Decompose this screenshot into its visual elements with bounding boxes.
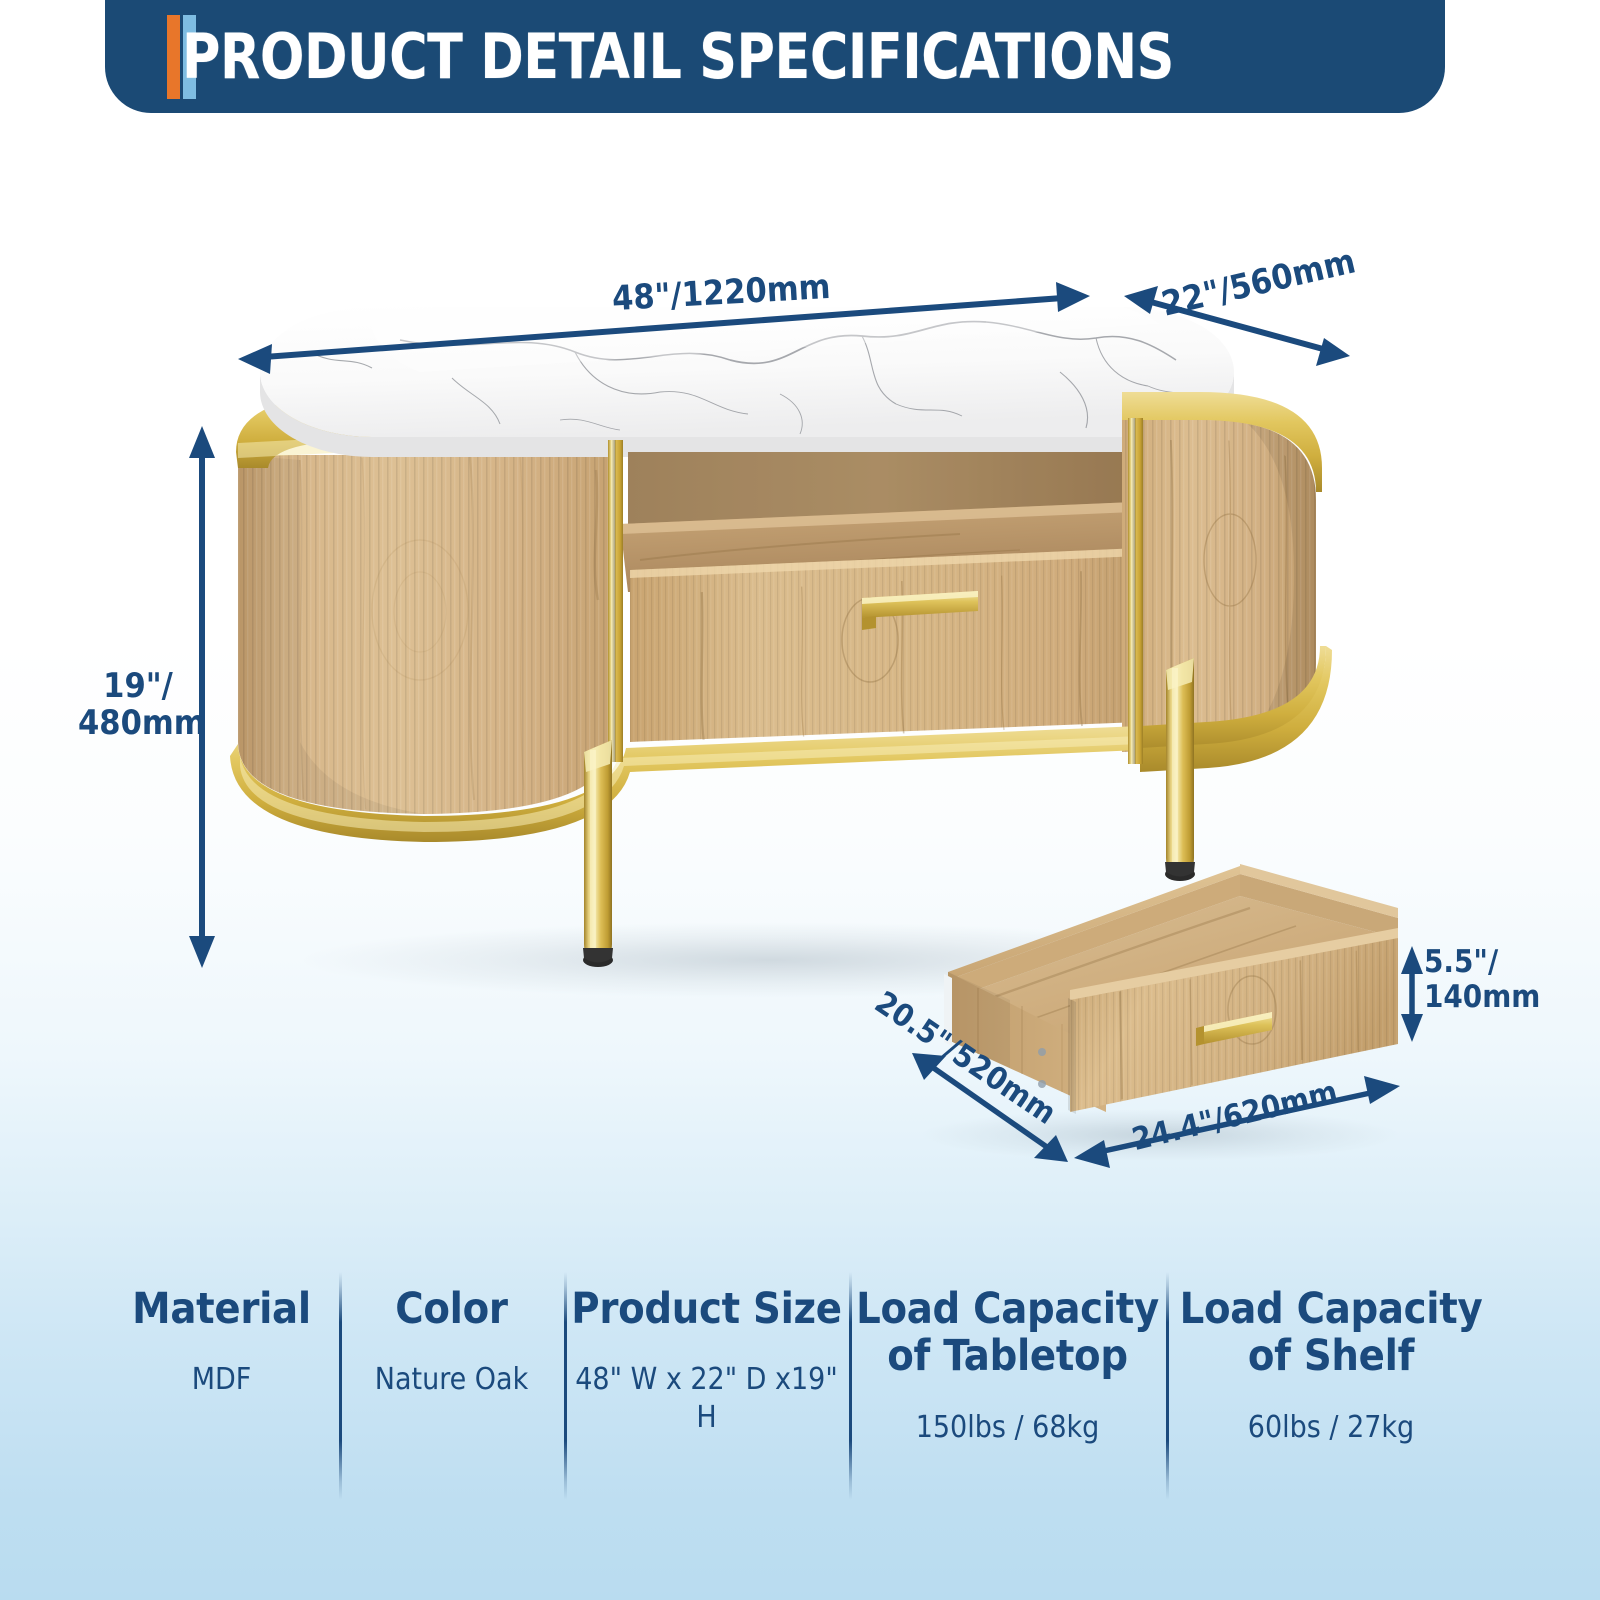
- specifications-table: Material MDF Color Nature Oak Product Si…: [104, 1272, 1496, 1512]
- spec-value-product-size: 48" W x 22" D x19" H: [564, 1361, 849, 1437]
- spec-column-load-capacity-shelf: Load Capacity of Shelf 60lbs / 27kg: [1166, 1272, 1496, 1512]
- dimension-label-drawer-height: 5.5"/ 140mm: [1424, 945, 1540, 1014]
- spec-value-load-capacity-shelf: 60lbs / 27kg: [1248, 1409, 1414, 1447]
- dimension-label-drawer-height-line2: 140mm: [1424, 980, 1540, 1015]
- spec-value-load-capacity-tabletop: 150lbs / 68kg: [916, 1409, 1100, 1447]
- spec-column-color: Color Nature Oak: [339, 1272, 564, 1512]
- spec-header-product-size: Product Size: [571, 1286, 841, 1333]
- dimension-label-drawer-height-line1: 5.5"/: [1424, 945, 1540, 980]
- spec-column-material: Material MDF: [104, 1272, 339, 1512]
- table-right-end-panel: [1122, 420, 1316, 752]
- table-left-end-panel: [238, 455, 612, 814]
- spec-header-material: Material: [132, 1286, 311, 1333]
- dimension-label-table-height: 19"/ 480mm: [78, 668, 198, 741]
- spec-value-color: Nature Oak: [375, 1361, 528, 1399]
- dimension-label-table-height-line2: 480mm: [78, 705, 198, 742]
- table-leg-front-right: [1165, 658, 1195, 881]
- spec-value-material: MDF: [192, 1361, 252, 1399]
- spec-column-product-size: Product Size 48" W x 22" D x19" H: [564, 1272, 849, 1512]
- spec-header-color: Color: [395, 1286, 507, 1333]
- spec-header-load-capacity-tabletop: Load Capacity of Tabletop: [849, 1286, 1166, 1381]
- spec-column-load-capacity-tabletop: Load Capacity of Tabletop 150lbs / 68kg: [849, 1272, 1166, 1512]
- table-leg-front-left: [583, 740, 613, 967]
- spec-header-load-capacity-shelf: Load Capacity of Shelf: [1166, 1286, 1496, 1381]
- table-marble-top: [260, 307, 1234, 457]
- table-drawer-front: [630, 548, 1140, 744]
- page-title: PRODUCT DETAIL SPECIFICATIONS: [182, 26, 1174, 88]
- dimension-label-table-height-line1: 19"/: [78, 668, 198, 705]
